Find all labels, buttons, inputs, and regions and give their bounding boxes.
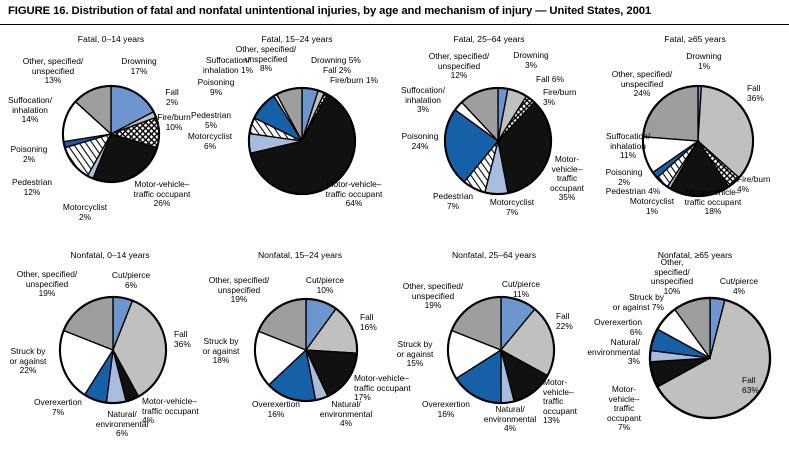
pie-svg xyxy=(61,84,161,184)
label-motor-vehicle: Motor-vehicle– traffic occupant 64% xyxy=(316,180,392,209)
label-poisoning: Poisoning 24% xyxy=(392,132,448,151)
label-suffocation: Suffocation/ inhalation 14% xyxy=(0,96,60,125)
label-other: Other, specified/ unspecified 12% xyxy=(414,52,504,81)
label-poisoning: Poisoning 9% xyxy=(186,78,246,97)
label-motor-vehicle: Motor- vehicle– traffic occupant 7% xyxy=(596,385,652,433)
label-motor-vehicle: Motor- vehicle– traffic occupant 13% xyxy=(543,378,593,426)
label-other: Other, specified/ unspecified 24% xyxy=(598,70,686,99)
label-fall: Fall 63% xyxy=(742,376,782,395)
label-suffocation: Suffocation/ inhalation 3% xyxy=(390,86,456,115)
label-struck-by: Struck by or against 15% xyxy=(384,340,446,369)
label-pedestrian: Pedestrian 5% xyxy=(181,111,241,130)
pie-nonfatal-15-24 xyxy=(253,297,359,403)
pie-nonfatal-65plus xyxy=(648,296,772,420)
label-cut-pierce: Cut/pierce 10% xyxy=(294,276,356,295)
label-natural-environmental: Natural/ environmental 4% xyxy=(308,400,384,429)
pie-svg xyxy=(446,295,556,405)
label-other: Other, specified/ unspecified 19% xyxy=(2,270,92,299)
label-poisoning: Poisoning 2% xyxy=(0,145,60,164)
panel-title-fatal-65plus: Fatal, ≥65 years xyxy=(630,34,760,44)
pie-svg xyxy=(253,297,359,403)
panel-title-fatal-25-64: Fatal, 25–64 years xyxy=(424,34,554,44)
label-drowning: Drowning 3% xyxy=(502,51,560,70)
label-struck-by: Struck by or against 22% xyxy=(0,347,58,376)
label-fire-burn: Fire/burn 3% xyxy=(543,88,595,107)
label-suffocation: Suffocation/ inhalation 11% xyxy=(594,132,662,161)
label-other: Other, specified/ unspecified 10% xyxy=(636,258,708,296)
pie-nonfatal-0-14 xyxy=(58,295,168,405)
pie-svg xyxy=(443,86,553,196)
label-pedestrian: Pedestrian 7% xyxy=(424,192,482,211)
label-poisoning: Poisoning 2% xyxy=(596,168,652,187)
pie-fatal-0-14 xyxy=(61,84,161,184)
label-struck-by: Struck by or against 18% xyxy=(190,337,252,366)
panel-title-nonfatal-0-14: Nonfatal, 0–14 years xyxy=(40,250,180,260)
panel-title-fatal-15-24: Fatal, 15–24 years xyxy=(232,34,362,44)
label-cut-pierce: Cut/pierce 6% xyxy=(100,271,162,290)
panel-title-fatal-0-14: Fatal, 0–14 years xyxy=(46,34,176,44)
label-other: Other, specified/ unspecified 13% xyxy=(8,57,98,86)
label-overexertion: Overexertion 6% xyxy=(580,318,642,337)
label-motor-vehicle: Motor-vehicle– traffic occupant 18% xyxy=(664,188,762,217)
label-drowning: Drowning 17% xyxy=(108,57,170,76)
pie-nonfatal-25-64 xyxy=(446,295,556,405)
label-natural-environmental: Natural/ environmental 6% xyxy=(84,410,160,439)
label-overexertion: Overexertion 16% xyxy=(240,400,312,419)
label-overexertion: Overexertion 7% xyxy=(22,398,94,417)
pie-svg xyxy=(58,295,168,405)
panel-title-nonfatal-15-24: Nonfatal, 15–24 years xyxy=(230,250,370,260)
label-fire-burn: Fire/burn 1% xyxy=(330,76,396,86)
label-motor-vehicle: Motor-vehicle– traffic occupant 17% xyxy=(354,374,430,403)
label-suffocation: Suffocation/ inhalation 1% xyxy=(186,56,270,75)
label-fall: Fall 16% xyxy=(360,313,400,332)
label-motorcyclist: Motorcyclist 7% xyxy=(479,198,545,217)
label-fall: Fall 36% xyxy=(747,84,787,103)
label-cut-pierce: Cut/pierce 4% xyxy=(708,277,770,296)
label-motorcyclist: Motorcyclist 2% xyxy=(50,203,120,222)
label-natural-environmental: Natural/ environmental 3% xyxy=(578,338,640,367)
label-other: Other, specified/ unspecified 19% xyxy=(194,276,284,305)
label-cut-pierce: Cut/pierce 11% xyxy=(490,280,552,299)
title-divider xyxy=(0,24,789,25)
label-motor-vehicle: Motor-vehicle– traffic occupant 26% xyxy=(126,180,198,209)
label-fall: Fall 6% xyxy=(536,75,590,85)
pie-fatal-25-64 xyxy=(443,86,553,196)
pie-svg xyxy=(648,296,772,420)
label-struck-by: Struck by or against 7% xyxy=(592,293,664,312)
figure-title: FIGURE 16. Distribution of fatal and non… xyxy=(8,5,783,17)
label-natural-environmental: Natural/ environmental 4% xyxy=(472,405,548,434)
label-motor-vehicle: Motor- vehicle– traffic occupant 35% xyxy=(542,155,592,203)
label-overexertion: Overexertion 16% xyxy=(410,400,482,419)
label-other: Other, specified/ unspecified 19% xyxy=(387,282,479,311)
panel-title-nonfatal-25-64: Nonfatal, 25–64 years xyxy=(424,250,564,260)
label-motorcyclist: Motorcyclist 6% xyxy=(178,132,242,151)
label-pedestrian: Pedestrian 12% xyxy=(0,178,66,197)
label-drowning: Drowning 1% xyxy=(673,52,735,71)
